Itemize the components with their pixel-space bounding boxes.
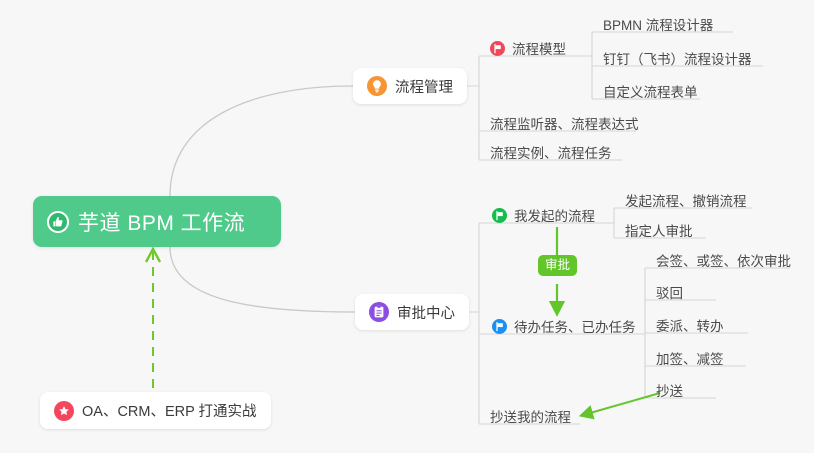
item-bohui[interactable]: 驳回	[656, 282, 683, 306]
item-label: 抄送	[656, 380, 683, 400]
item-chaosong[interactable]: 抄送	[656, 380, 683, 404]
item-jiaqian-jianqian[interactable]: 加签、减签	[656, 348, 724, 372]
root-node[interactable]: 芋道 BPM 工作流	[33, 196, 281, 247]
lightbulb-icon	[367, 76, 387, 96]
item-label: BPMN 流程设计器	[603, 14, 713, 34]
item-label: 发起流程、撤销流程	[625, 190, 747, 210]
item-liucheng-jianting[interactable]: 流程监听器、流程表达式	[490, 113, 639, 137]
item-label: 委派、转办	[656, 315, 724, 335]
item-liucheng-shili[interactable]: 流程实例、流程任务	[490, 142, 612, 166]
root-label: 芋道 BPM 工作流	[78, 207, 245, 237]
branch-label-shenpi-zhongxin: 审批中心	[397, 302, 455, 323]
arrow-chaosong-to-chaosongwode	[583, 393, 660, 415]
item-label: 流程实例、流程任务	[490, 142, 612, 162]
item-label: 指定人审批	[625, 220, 693, 240]
mindmap-canvas: 芋道 BPM 工作流 流程管理 审批中心	[0, 0, 814, 453]
item-label: 流程模型	[512, 38, 566, 58]
link-root-to-shenpi-zhongxin	[170, 247, 355, 312]
item-daiban-yiban-renwu[interactable]: 待办任务、已办任务	[492, 316, 636, 340]
flag-icon	[492, 208, 507, 223]
floating-node-oa-crm-erp[interactable]: OA、CRM、ERP 打通实战	[40, 392, 271, 429]
item-label: 会签、或签、依次审批	[656, 250, 791, 270]
item-liucheng-moxing[interactable]: 流程模型	[490, 38, 566, 62]
item-label: 加签、减签	[656, 348, 724, 368]
item-label: 抄送我的流程	[490, 406, 571, 426]
branch-node-liucheng-guanli[interactable]: 流程管理	[353, 68, 467, 104]
flag-icon	[492, 319, 507, 334]
item-custom-form[interactable]: 自定义流程表单	[603, 81, 698, 105]
branch-node-shenpi-zhongxin[interactable]: 审批中心	[355, 294, 469, 330]
item-zhidingren-shenpi[interactable]: 指定人审批	[625, 220, 693, 244]
branch-label-liucheng-guanli: 流程管理	[395, 76, 453, 97]
floating-label-oa-crm-erp: OA、CRM、ERP 打通实战	[82, 400, 257, 421]
item-label: 自定义流程表单	[603, 81, 698, 101]
item-label: 我发起的流程	[514, 205, 595, 225]
item-label: 流程监听器、流程表达式	[490, 113, 639, 133]
item-label: 待办任务、已办任务	[514, 316, 636, 336]
flow-pill-shenpi: 审批	[538, 255, 577, 276]
item-label: 钉钉（飞书）流程设计器	[603, 48, 752, 68]
item-faqi-chexiao-liucheng[interactable]: 发起流程、撤销流程	[625, 190, 747, 214]
item-label: 驳回	[656, 282, 683, 302]
thumbs-up-icon	[47, 211, 69, 233]
item-weipai-zhuanban[interactable]: 委派、转办	[656, 315, 724, 339]
item-bpmn-designer[interactable]: BPMN 流程设计器	[603, 14, 713, 38]
flag-icon	[490, 41, 505, 56]
item-dingding-designer[interactable]: 钉钉（飞书）流程设计器	[603, 48, 752, 72]
link-root-to-liucheng-guanli	[170, 86, 353, 196]
star-icon	[54, 401, 74, 421]
item-huiqian-huoqian-yici[interactable]: 会签、或签、依次审批	[656, 250, 791, 274]
clipboard-icon	[369, 302, 389, 322]
item-chaosong-wode-liucheng[interactable]: 抄送我的流程	[490, 406, 571, 430]
item-wofaqi-de-liucheng[interactable]: 我发起的流程	[492, 205, 595, 229]
